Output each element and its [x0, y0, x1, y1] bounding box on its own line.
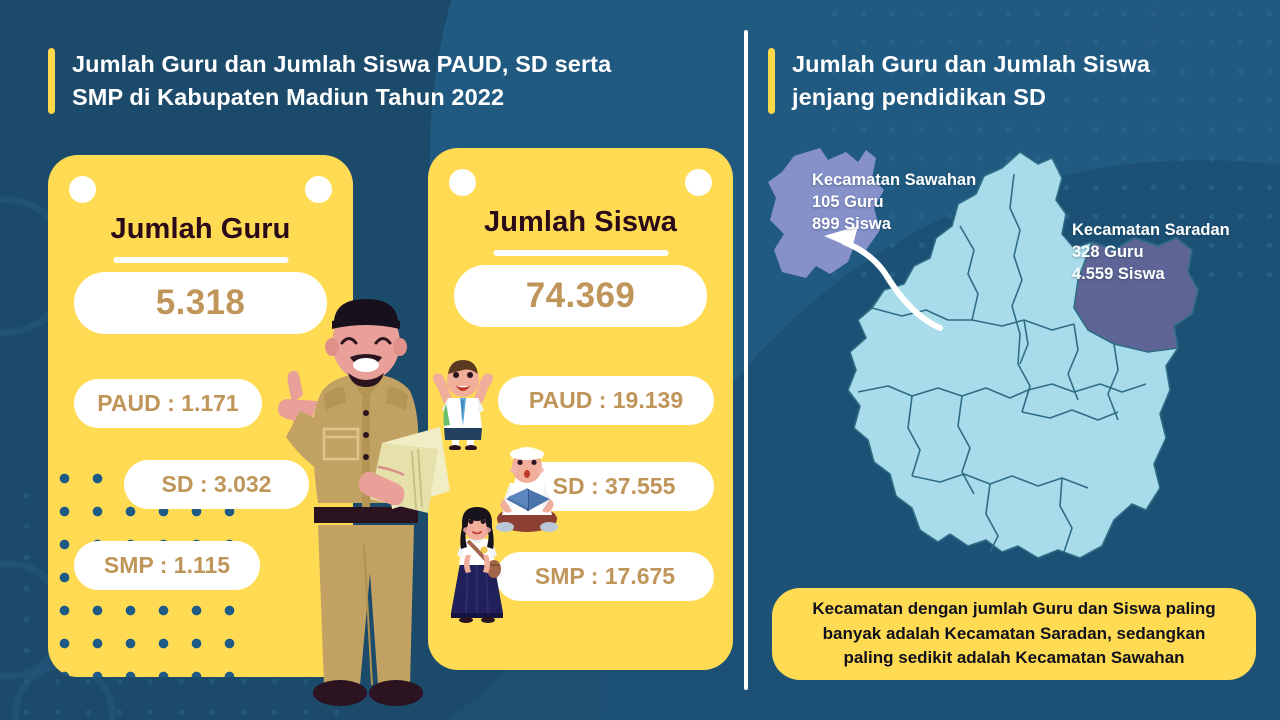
card-notch-left-icon: [69, 176, 96, 203]
card-notch-left-icon: [449, 169, 476, 196]
card-title: Jumlah Guru: [48, 213, 353, 246]
card-title: Jumlah Siswa: [428, 206, 733, 239]
infographic-canvas: Jumlah Guru dan Jumlah Siswa PAUD, SD se…: [0, 0, 1280, 720]
card-total-value: 5.318: [156, 283, 246, 323]
card-total-pill: 5.318: [74, 272, 327, 334]
stat-card-jumlah-guru: Jumlah Guru 5.318 PAUD : 1.171 SD : 3.03…: [48, 155, 353, 677]
map-caption-box: Kecamatan dengan jumlah Guru dan Siswa p…: [772, 588, 1256, 680]
panel-divider: [744, 30, 748, 690]
stat-pill-label: PAUD : 19.139: [529, 387, 683, 414]
stat-pill-smp: SMP : 1.115: [74, 541, 260, 590]
stat-pill-label: PAUD : 1.171: [97, 390, 238, 417]
heading-accent-bar: [48, 48, 55, 114]
right-heading-text: Jumlah Guru dan Jumlah Siswa jenjang pen…: [792, 48, 1150, 115]
card-total-pill: 74.369: [454, 265, 707, 327]
left-heading-text: Jumlah Guru dan Jumlah Siswa PAUD, SD se…: [72, 48, 611, 115]
stat-pill-label: SMP : 1.115: [104, 552, 230, 579]
stat-pill-label: SD : 3.032: [162, 471, 272, 498]
stat-pill-smp: SMP : 17.675: [496, 552, 714, 601]
card-total-value: 74.369: [526, 276, 635, 316]
stat-pill-sd: SD : 37.555: [514, 462, 714, 511]
card-title-rule: [113, 257, 288, 263]
stat-pill-paud: PAUD : 19.139: [498, 376, 714, 425]
left-panel-heading: Jumlah Guru dan Jumlah Siswa PAUD, SD se…: [48, 48, 611, 115]
heading-accent-bar: [768, 48, 775, 114]
map-label-saradan: Kecamatan Saradan 328 Guru 4.559 Siswa: [1072, 220, 1230, 286]
card-notch-right-icon: [305, 176, 332, 203]
stat-pill-label: SMP : 17.675: [535, 563, 675, 590]
right-panel-heading: Jumlah Guru dan Jumlah Siswa jenjang pen…: [768, 48, 1150, 115]
stat-pill-paud: PAUD : 1.171: [74, 379, 262, 428]
card-title-rule: [493, 250, 668, 256]
stat-pill-sd: SD : 3.032: [124, 460, 309, 509]
map-caption-text: Kecamatan dengan jumlah Guru dan Siswa p…: [812, 597, 1215, 671]
card-notch-right-icon: [685, 169, 712, 196]
stat-pill-label: SD : 37.555: [553, 473, 676, 500]
stat-card-jumlah-siswa: Jumlah Siswa 74.369 PAUD : 19.139 SD : 3…: [428, 148, 733, 670]
map-label-sawahan: Kecamatan Sawahan 105 Guru 899 Siswa: [812, 170, 976, 236]
